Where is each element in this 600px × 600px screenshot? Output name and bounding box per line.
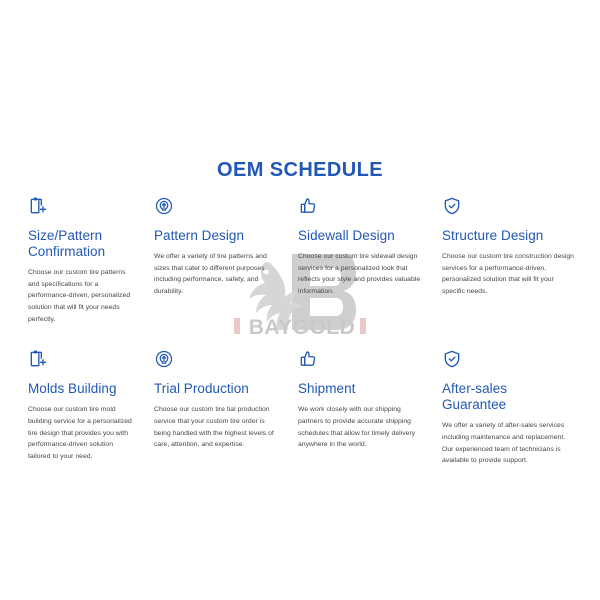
schedule-card-trial-production: Trial Production Choose our custom tire … xyxy=(150,349,295,467)
card-body: We offer a variety of after-sales servic… xyxy=(442,420,574,467)
schedule-card-size-pattern-confirmation: Size/Pattern Confirmation Choose our cus… xyxy=(0,196,150,325)
clipboard-plus-icon xyxy=(28,196,48,216)
shield-check-icon xyxy=(442,349,462,369)
card-heading: Pattern Design xyxy=(154,228,279,244)
schedule-row-2: Molds Building Choose our custom tire mo… xyxy=(0,349,600,467)
schedule-card-after-sales-guarantee: After-sales Guarantee We offer a variety… xyxy=(440,349,590,467)
card-heading: Molds Building xyxy=(28,381,134,397)
card-heading: Trial Production xyxy=(154,381,279,397)
gear-pattern-icon xyxy=(154,349,174,369)
schedule-card-structure-design: Structure Design Choose our custom tire … xyxy=(440,196,590,325)
clipboard-plus-icon xyxy=(28,349,48,369)
card-body: Choose our custom tire tial production s… xyxy=(154,404,279,451)
card-body: Choose our custom tire mold building ser… xyxy=(28,404,134,462)
gear-pattern-icon xyxy=(154,196,174,216)
card-body: We offer a variety of tire patterns and … xyxy=(154,251,279,298)
schedule-card-shipment: Shipment We work closely with our shippi… xyxy=(295,349,440,467)
oem-schedule-page: BAYGOLD OEM SCHEDULE Size/Pattern Confir… xyxy=(0,0,600,600)
card-body: Choose our custom tire patterns and spec… xyxy=(28,267,134,325)
schedule-row-1: Size/Pattern Confirmation Choose our cus… xyxy=(0,196,600,325)
thumbs-up-icon xyxy=(298,349,318,369)
card-body: Choose our custom tire sidewall design s… xyxy=(298,251,424,298)
page-title: OEM SCHEDULE xyxy=(0,159,600,182)
thumbs-up-icon xyxy=(298,196,318,216)
schedule-grid: Size/Pattern Confirmation Choose our cus… xyxy=(0,196,600,467)
card-heading: After-sales Guarantee xyxy=(442,381,574,413)
schedule-card-pattern-design: Pattern Design We offer a variety of tir… xyxy=(150,196,295,325)
card-body: Choose our custom tire construction desi… xyxy=(442,251,574,298)
card-heading: Size/Pattern Confirmation xyxy=(28,228,134,260)
card-heading: Structure Design xyxy=(442,228,574,244)
card-heading: Shipment xyxy=(298,381,424,397)
schedule-card-molds-building: Molds Building Choose our custom tire mo… xyxy=(0,349,150,467)
shield-check-icon xyxy=(442,196,462,216)
card-heading: Sidewall Design xyxy=(298,228,424,244)
card-body: We work closely with our shipping partne… xyxy=(298,404,424,451)
schedule-card-sidewall-design: Sidewall Design Choose our custom tire s… xyxy=(295,196,440,325)
